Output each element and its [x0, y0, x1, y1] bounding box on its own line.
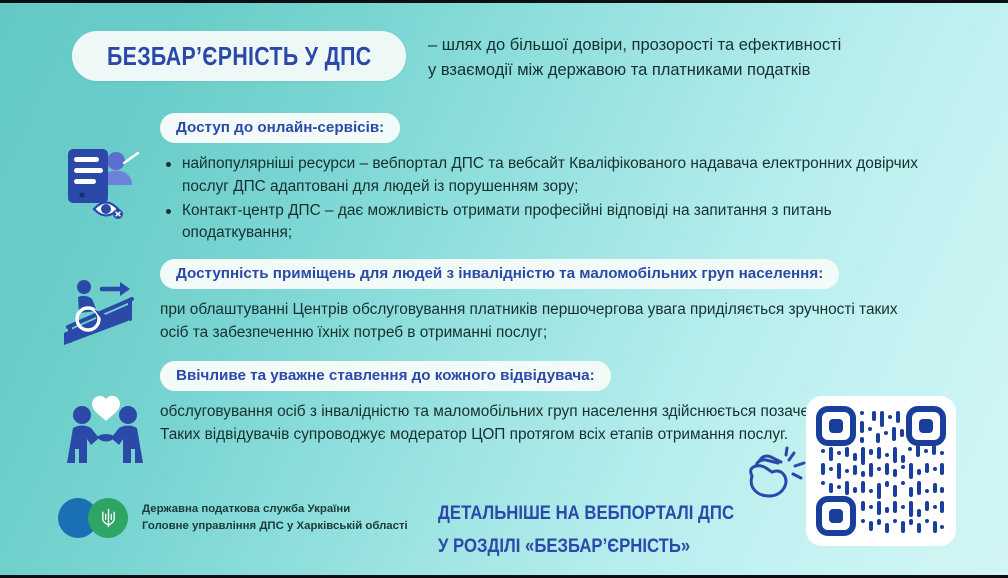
bullet-list: найпопулярніші ресурси – вебпортал ДПС т… — [160, 153, 920, 244]
cta-line-1: ДЕТАЛЬНІШЕ НА ВЕБПОРТАЛІ ДПС — [438, 497, 728, 530]
qr-code[interactable] — [806, 396, 956, 546]
tap-hand-icon — [742, 446, 808, 508]
section-heading: Ввічливе та уважне ставлення до кожного … — [160, 361, 611, 391]
org-line-1: Державна податкова служба України — [142, 501, 408, 518]
page-title: БЕЗБАР’ЄРНІСТЬ У ДПС — [107, 41, 371, 72]
infographic-poster: БЕЗБАР’ЄРНІСТЬ У ДПС – шлях до більшої д… — [0, 0, 1008, 578]
footer-logo-block: Державна податкова служба України Головн… — [58, 498, 408, 538]
poster-subtitle: – шлях до більшої довіри, прозорості та … — [428, 33, 958, 83]
logo-mark — [58, 498, 136, 538]
section-heading: Доступність приміщень для людей з інвалі… — [160, 259, 839, 289]
subtitle-line-1: – шлях до більшої довіри, прозорості та … — [428, 33, 958, 58]
list-item: Контакт-центр ДПС – дає можливість отрим… — [160, 200, 920, 245]
section-body: найпопулярніші ресурси – вебпортал ДПС т… — [160, 153, 920, 244]
handshake-heart-icon — [60, 395, 152, 467]
subtitle-line-2: у взаємодії між державою та платниками п… — [428, 58, 958, 83]
section-body: обслуговування осіб з інвалідністю та ма… — [160, 401, 860, 446]
cta-line-2: У РОЗДІЛІ «БЕЗБАР’ЄРНІСТЬ» — [438, 530, 728, 563]
section-heading: Доступ до онлайн-сервісів: — [160, 113, 400, 143]
section-premises-accessibility: Доступність приміщень для людей з інвалі… — [160, 259, 920, 344]
list-item: найпопулярніші ресурси – вебпортал ДПС т… — [160, 153, 920, 198]
section-polite-attitude: Ввічливе та уважне ставлення до кожного … — [160, 361, 860, 446]
section-online-services: Доступ до онлайн-сервісів: найпопулярніш… — [160, 113, 920, 247]
green-circle-trident-logo — [88, 498, 128, 538]
org-line-2: Головне управління ДПС у Харківській обл… — [142, 518, 408, 535]
organization-name: Державна податкова служба України Головн… — [142, 501, 408, 535]
wheelchair-ramp-icon — [58, 275, 154, 347]
section-body: при облаштуванні Центрів обслуговування … — [160, 299, 920, 344]
poster-title-pill: БЕЗБАР’ЄРНІСТЬ У ДПС — [72, 31, 406, 81]
call-to-action: ДЕТАЛЬНІШЕ НА ВЕБПОРТАЛІ ДПС У РОЗДІЛІ «… — [438, 497, 768, 564]
accessible-document-eye-icon — [60, 143, 146, 219]
